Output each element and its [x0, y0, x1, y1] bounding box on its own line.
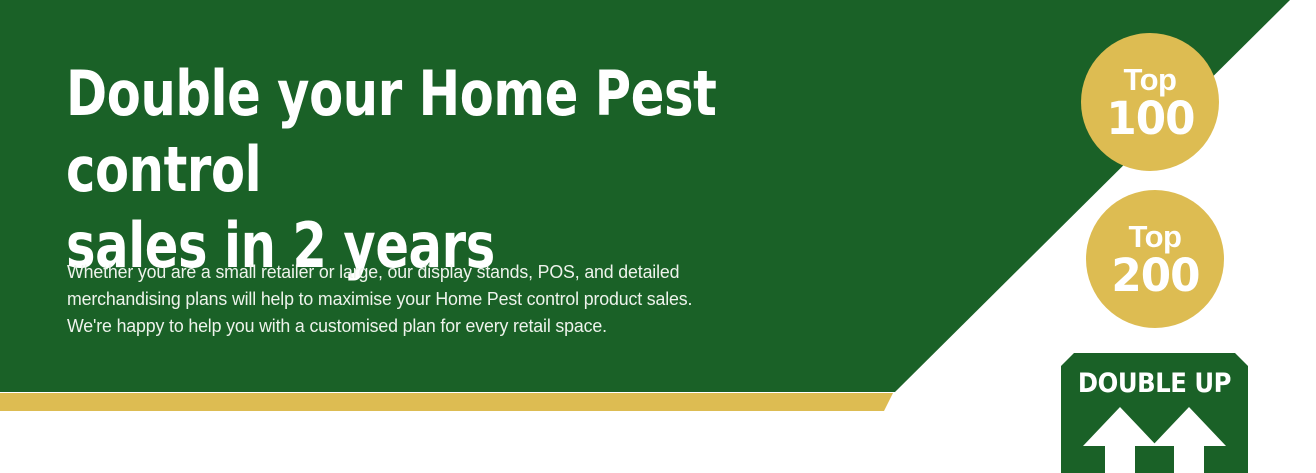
- double-up-logo: DOUBLE UP: [1061, 353, 1248, 473]
- badge-top-200-number: 200: [1111, 253, 1199, 298]
- promo-banner: Double your Home Pest control sales in 2…: [0, 0, 1316, 473]
- body-copy: Whether you are a small retailer or larg…: [67, 258, 835, 339]
- page-title: Double your Home Pest control sales in 2…: [66, 56, 786, 284]
- logo-plaque-shape: [1061, 353, 1248, 473]
- badge-top-200-word: Top: [1128, 221, 1181, 252]
- double-up-logo-graphic: [1061, 353, 1248, 473]
- badge-top-100-number: 100: [1106, 96, 1194, 141]
- badge-top-100-word: Top: [1123, 64, 1176, 95]
- gold-stripe: [0, 393, 893, 411]
- badge-top-100: Top 100: [1081, 33, 1219, 171]
- badge-top-200: Top 200: [1086, 190, 1224, 328]
